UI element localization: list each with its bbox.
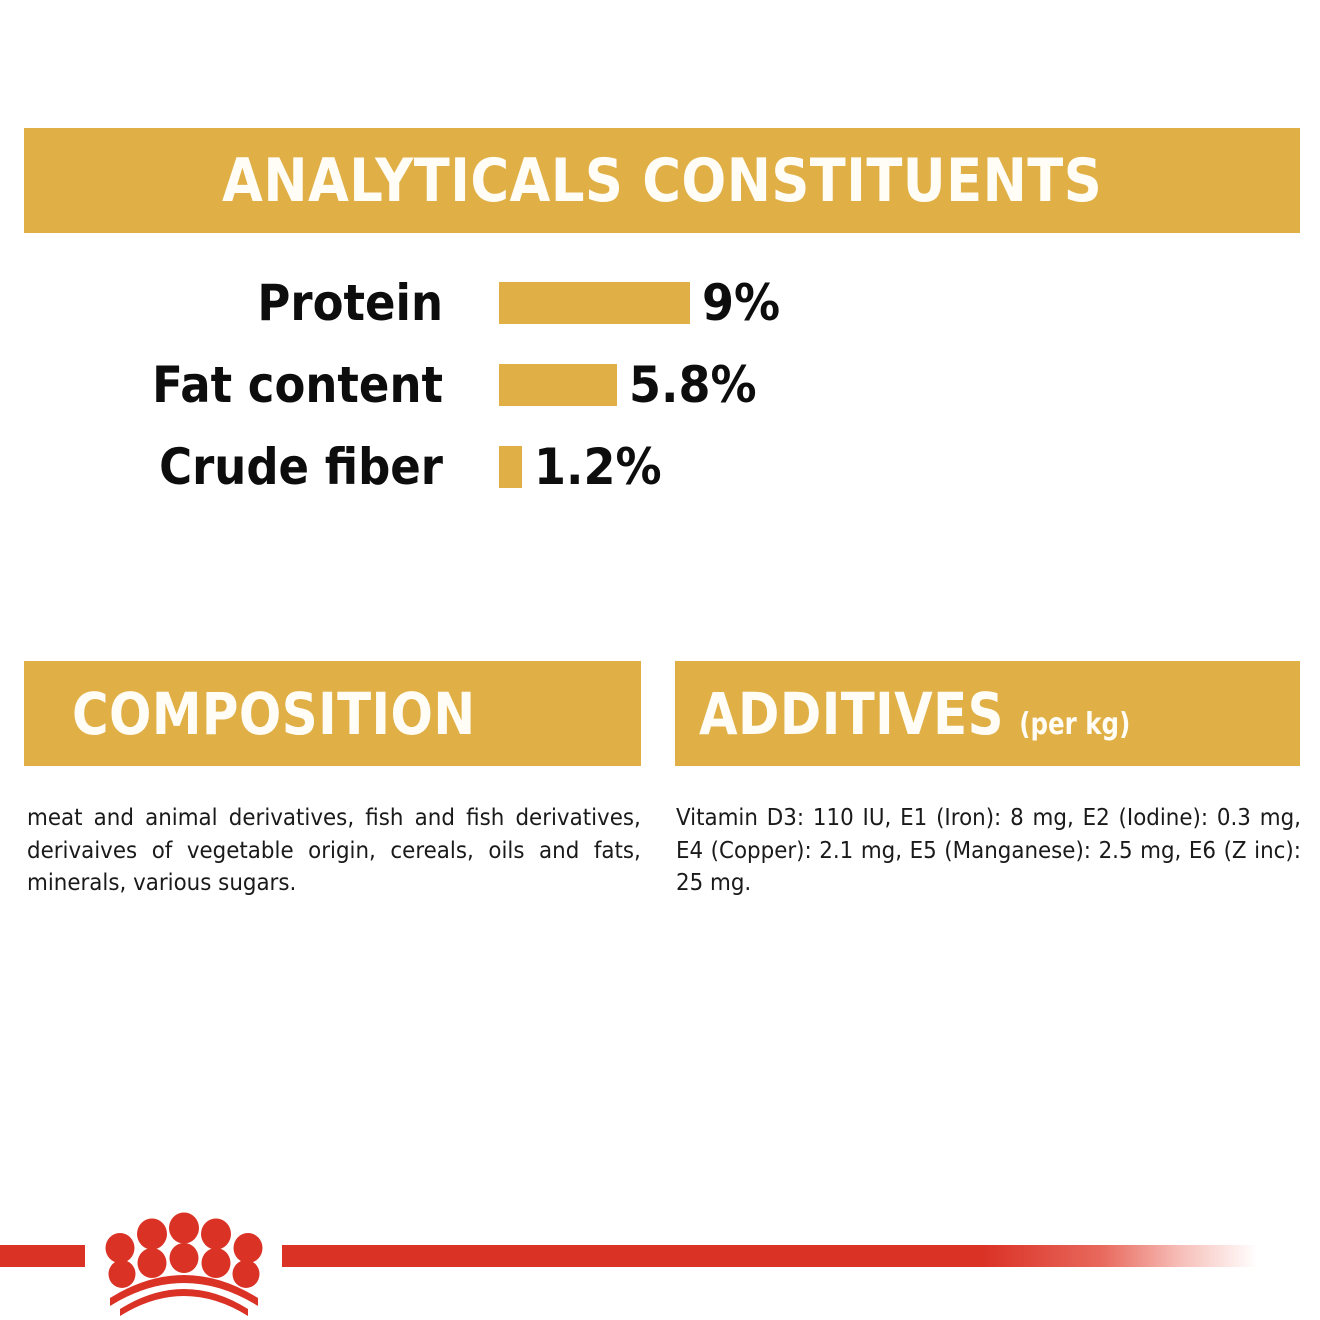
nutrient-bar-protein xyxy=(499,282,690,324)
nutrient-label-fat-content: Fat content xyxy=(44,360,443,410)
additives-body-text: Vitamin D3: 110 IU, E1 (Iron): 8 mg, E2 … xyxy=(676,802,1301,900)
analyticals-constituents-title: ANALYTICALS CONSTITUENTS xyxy=(222,151,1102,211)
additives-title-group: ADDITIVES (per kg) xyxy=(699,685,1133,743)
additives-title: ADDITIVES xyxy=(699,685,1004,743)
nutrient-row: Protein 9% xyxy=(0,262,1320,344)
nutrient-value-protein: 9% xyxy=(702,278,780,328)
nutrient-bar-group-protein: 9% xyxy=(499,278,787,328)
additives-banner: ADDITIVES (per kg) xyxy=(675,661,1300,766)
nutrient-value-crude-fiber: 1.2% xyxy=(534,442,662,492)
nutrient-value-fat-content: 5.8% xyxy=(629,360,757,410)
footer-rule-right xyxy=(282,1245,1257,1267)
footer-rule-left xyxy=(0,1245,85,1267)
nutrient-bar-group-fat-content: 5.8% xyxy=(499,360,768,410)
nutrient-bar-fat-content xyxy=(499,364,617,406)
composition-banner: COMPOSITION xyxy=(24,661,641,766)
analyticals-bar-chart: Protein 9% Fat content 5.8% Crude fiber … xyxy=(0,262,1320,508)
nutrient-bar-crude-fiber xyxy=(499,446,522,488)
product-spec-panel: ANALYTICALS CONSTITUENTS Protein 9% Fat … xyxy=(0,0,1320,1320)
nutrient-label-protein: Protein xyxy=(44,278,443,328)
nutrient-bar-group-crude-fiber: 1.2% xyxy=(499,442,673,492)
nutrient-label-crude-fiber: Crude fiber xyxy=(44,442,443,492)
additives-subtitle: (per kg) xyxy=(1019,710,1130,740)
composition-body-text: meat and animal derivatives, fish and fi… xyxy=(27,802,641,900)
royal-canin-crown-logo xyxy=(96,1204,272,1316)
nutrient-row: Crude fiber 1.2% xyxy=(0,426,1320,508)
analyticals-constituents-banner: ANALYTICALS CONSTITUENTS xyxy=(24,128,1300,233)
nutrient-row: Fat content 5.8% xyxy=(0,344,1320,426)
composition-title: COMPOSITION xyxy=(72,685,476,743)
